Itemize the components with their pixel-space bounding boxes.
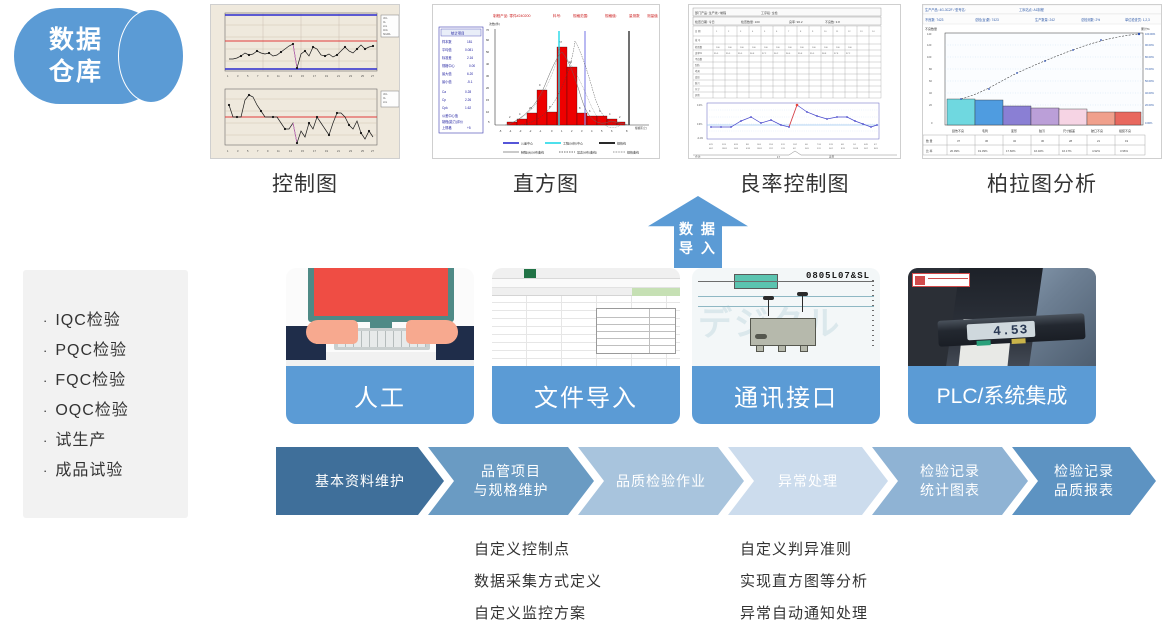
svg-text:SIGMA: SIGMA [383,33,391,36]
bullet-icon: · [43,403,48,418]
flow-step-exception-handling[interactable]: 异常处理 [728,447,888,515]
svg-text:0.4%: 0.4% [697,105,702,107]
svg-text:80.00%: 80.00% [1145,55,1154,59]
source-card-label-manual: 人工 [286,366,474,424]
svg-text:破口不良: 破口不良 [1091,128,1103,133]
svg-text:尺寸超差: 尺寸超差 [1063,128,1075,133]
inspection-item-label: PQC检验 [55,342,127,359]
flow-step-quality-report[interactable]: 检验记录 品质报表 [1012,447,1156,515]
svg-text:测量值: 测量值 [647,13,658,18]
svg-text:LCL: LCL [383,102,388,104]
svg-text:0.00%: 0.00% [1145,121,1153,125]
svg-text:Ca: Ca [442,90,446,94]
svg-text:不良数: 不良数 [695,57,703,61]
svg-text:最大值: 最大值 [442,71,452,76]
svg-text:良率%: 良率% [695,51,703,55]
svg-text:40: 40 [486,62,490,66]
svg-text:37: 37 [957,139,961,143]
chart-caption-yield-control-chart: 良率控制图 [688,168,901,198]
svg-text:+5: +5 [467,126,471,130]
source-card-manual[interactable]: 人工 [286,268,474,424]
svg-text:规格区(上): 规格区(上) [635,126,647,130]
svg-text:部门产品: 生产线 / 制程: 部门产品: 生产线 / 制程 [695,10,726,15]
svg-text:15: 15 [486,98,490,102]
data-import-arrow: 数 据 导 入 [648,196,748,268]
svg-text:平均值: 平均值 [442,47,452,52]
spreadsheet-icon [492,268,680,366]
svg-text:制程产品: 零件#240200: 制程产品: 零件#240200 [493,13,531,18]
svg-text:比 率: 比 率 [926,149,933,153]
svg-text:17.60%: 17.60% [1006,149,1016,153]
svg-text:脏污: 脏污 [1039,128,1045,133]
bullet-icon: · [43,463,48,478]
svg-text:0.28: 0.28 [465,90,471,94]
svg-text:0.00: 0.00 [469,64,475,68]
flow-step-label: 基本资料维护 [315,472,405,491]
svg-text:Cpk: Cpk [442,106,448,110]
inspection-item-finished-product-test[interactable]: ·成品试验 [43,456,188,486]
yield-control-chart-figure: 部门产品: 生产线 / 制程工序段: 全检 检查日期: 今日检查数量: 100 … [689,5,901,159]
flow-step-label: 品管项目 与规格维护 [474,462,549,500]
svg-text:2.26: 2.26 [465,98,471,102]
chart-thumbnail-pareto[interactable]: 生产产品: 4G-3C2F / 型号名:工序站点: A1制程 不良数: 7423… [922,4,1162,159]
flow-step-label: 品质检验作业 [616,472,706,491]
svg-text:90.00%: 90.00% [1145,43,1154,47]
svg-text:其他: 其他 [695,93,700,97]
note-item: 异常自动通知处理 [740,598,868,630]
svg-text:40.00%: 40.00% [1145,91,1154,95]
flow-step-qc-items-spec[interactable]: 品管项目 与规格维护 [428,447,594,515]
flow-step-inspection-statistics[interactable]: 检验记录 统计图表 [872,447,1028,515]
source-card-comm-interface[interactable]: デジタル 0805L07&SL 通讯接口 [692,268,880,424]
svg-text:30: 30 [486,74,490,78]
svg-text:数 量: 数 量 [926,139,933,143]
svg-text:脏污: 脏污 [695,81,700,85]
svg-text:常态分布(曲线): 常态分布(曲线) [577,150,597,155]
svg-text:LCL: LCL [383,26,388,28]
inspection-item-oqc[interactable]: ·OQC检验 [43,396,188,426]
svg-text:181: 181 [467,40,473,44]
flow-step-quality-inspection[interactable]: 品质检验作业 [578,447,744,515]
inspection-item-iqc[interactable]: ·IQC检验 [43,306,188,336]
svg-text:公差中心值: 公差中心值 [442,113,459,118]
chart-caption-pareto: 柏拉图分析 [922,168,1162,198]
note-item: 数据采集方式定义 [474,566,602,598]
svg-text:100.00%: 100.00% [1145,32,1156,36]
svg-text:19: 19 [1125,139,1129,143]
svg-text:生产数量: 242: 生产数量: 242 [1035,17,1055,22]
svg-text:18/01: 18/01 [757,148,763,150]
svg-text:19.39%: 19.39% [978,149,988,153]
note-item: 自定义控制点 [474,534,602,566]
data-warehouse-label: 数据 仓库 [28,24,124,88]
chart-caption-control-chart: 控制图 [210,168,400,198]
person-typing-icon [286,268,474,366]
svg-text:28: 28 [1069,139,1073,143]
svg-text:规格范围:: 规格范围: [573,13,588,18]
svg-text:1.62: 1.62 [465,106,471,110]
inspection-item-fqc[interactable]: ·FQC检验 [43,366,188,396]
svg-text:20: 20 [486,86,490,90]
svg-text:良率: 96.2: 良率: 96.2 [789,19,803,24]
inspection-item-label: OQC检验 [55,402,128,419]
svg-text:单位检查员: 1,2,3: 单位检查员: 1,2,3 [1125,17,1150,22]
source-card-label-file-import: 文件导入 [492,366,680,424]
chart-thumbnail-control-chart[interactable]: 1357 9111315 17192123 2527 UCLCLLCLAVGSI… [210,4,400,159]
inspection-item-trial-production[interactable]: ·试生产 [43,426,188,456]
svg-text:制程(台)分布曲线: 制程(台)分布曲线 [521,150,544,155]
source-card-plc-integration[interactable]: 4.53 PLC/系统集成 [908,268,1096,424]
svg-text:工程(分析)中心: 工程(分析)中心 [563,141,583,146]
svg-text:Cp: Cp [442,98,446,102]
svg-text:工序段: 全检: 工序段: 全检 [761,10,778,15]
note-item: 自定义监控方案 [474,598,602,630]
svg-text:70: 70 [486,28,490,32]
svg-text:50.00%: 50.00% [1145,79,1154,83]
svg-text:规格值:: 规格值: [605,13,617,18]
svg-text:36: 36 [985,139,989,143]
svg-text:规格曲线: 规格曲线 [627,150,639,155]
svg-text:2.16: 2.16 [467,56,473,60]
svg-text:不良数量: 不良数量 [925,26,937,31]
svg-text:32: 32 [1013,139,1017,143]
svg-text:10: 10 [486,110,490,114]
svg-text:检查日期: 今日: 检查日期: 今日 [695,19,715,24]
chart-thumbnail-yield-control-chart[interactable]: 部门产品: 生产线 / 制程工序段: 全检 检查日期: 今日检查数量: 100 … [688,4,901,159]
svg-text:上规格: 上规格 [442,125,452,130]
source-card-label-plc-integration: PLC/系统集成 [908,366,1096,424]
svg-text:21: 21 [1097,139,1101,143]
chart-caption-histogram: 直方图 [432,168,660,198]
bullet-icon: · [43,373,48,388]
svg-text:16.17%: 16.17% [1062,149,1072,153]
svg-text:检验数: 检验数 [695,45,703,49]
flow-step-label: 检验记录 品质报表 [1054,462,1114,500]
note-item: 实现直方图等分析 [740,566,868,598]
svg-text:120: 120 [927,43,932,47]
inspection-types-panel: ·IQC检验 ·PQC检验 ·FQC检验 ·OQC检验 ·试生产 ·成品试验 [23,270,188,518]
svg-text:日 期: 日 期 [695,29,701,33]
svg-text:18/01: 18/01 [722,148,728,150]
svg-text:变形: 变形 [695,75,700,79]
svg-text:公差中心: 公差中心 [521,141,533,146]
svg-text:项目: 项目 [829,155,835,159]
svg-text:16.40%: 16.40% [1034,149,1044,153]
svg-text:60: 60 [486,38,490,42]
process-flow: 基本资料维护 品管项目 与规格维护 品质检验作业 异常处理 检验记录 统计图表 … [276,447,1156,515]
svg-text:0.0%: 0.0% [697,124,702,126]
svg-text:合计:: 合计: [695,155,701,159]
svg-text:3.96%: 3.96% [1120,149,1128,153]
svg-text:总检(台)数: 7423: 总检(台)数: 7423 [975,17,999,22]
svg-text:不良数: 3.8: 不良数: 3.8 [825,19,840,24]
svg-text:AVG: AVG [383,29,388,32]
svg-text:毛刺: 毛刺 [695,69,700,73]
svg-text:统计项目: 统计项目 [451,31,465,36]
svg-text:量测数: 量测数 [629,13,640,18]
svg-text:工序站点: A1制程: 工序站点: A1制程 [1019,7,1045,12]
svg-text:-0.4%: -0.4% [697,138,703,140]
bullet-icon: · [43,343,48,358]
inspection-item-label: IQC检验 [55,312,120,329]
inspection-item-label: 成品试验 [55,462,123,479]
svg-text:标准差: 标准差 [442,55,452,60]
device-interface-icon: デジタル 0805L07&SL [692,268,880,366]
svg-text:20.09%: 20.09% [950,149,960,153]
bullet-icon: · [43,433,48,448]
svg-text:尺寸: 尺寸 [695,87,700,91]
source-card-label-comm-interface: 通讯接口 [692,366,880,424]
bullet-icon: · [43,313,48,328]
svg-text:UCL: UCL [383,94,388,96]
svg-text:UCL: UCL [383,18,388,20]
svg-text:料号:: 料号: [553,13,561,18]
flow-step-basic-data[interactable]: 基本资料维护 [276,447,444,515]
cylinder-cap [118,9,184,103]
pareto-chart-figure: 生产产品: 4G-3C2F / 型号名:工序站点: A1制程 不良数: 7423… [923,5,1162,159]
svg-text:总检测数: 2%: 总检测数: 2% [1081,17,1100,22]
svg-text:6.20: 6.20 [467,72,473,76]
svg-text:70.00%: 70.00% [1145,67,1154,71]
inspection-item-label: FQC检验 [55,372,126,389]
svg-text:变形: 变形 [1011,128,1017,133]
svg-text:生产产品: 4G-3C2F / 型号名:: 生产产品: 4G-3C2F / 型号名: [925,7,966,12]
svg-text:30: 30 [1041,139,1045,143]
inspection-item-pqc[interactable]: ·PQC检验 [43,336,188,366]
svg-text:样本数: 样本数 [442,39,452,44]
svg-text:规格线: 规格线 [617,141,626,146]
svg-text:4.92%: 4.92% [1092,149,1100,153]
svg-text:检查数量: 100: 检查数量: 100 [741,19,760,24]
svg-text:-5.1: -5.1 [467,80,473,84]
svg-text:140: 140 [927,32,932,36]
svg-text:0.081: 0.081 [465,48,473,52]
digital-caliper-photo: 4.53 [908,268,1096,366]
svg-text:批 号: 批 号 [695,38,701,42]
data-warehouse-cylinder: 数据 仓库 [14,8,186,104]
svg-text:次数(件): 次数(件) [489,21,500,26]
svg-text:10/18: 10/18 [853,148,859,150]
svg-text:50: 50 [486,50,490,54]
svg-text:制程(能力)评价: 制程(能力)评价 [442,119,464,124]
svg-text:刮伤不良: 刮伤不良 [952,128,964,133]
inspection-item-label: 试生产 [55,432,106,449]
notes-column-left: 自定义控制点 数据采集方式定义 自定义监控方案 [474,534,602,630]
data-import-label: 数 据 导 入 [648,220,748,258]
flow-step-label: 异常处理 [778,472,838,491]
svg-text:规格中心: 规格中心 [442,63,456,68]
svg-text:不良数: 7423: 不良数: 7423 [925,17,944,22]
notes-column-right: 自定义判异准则 实现直方图等分析 异常自动通知处理 [740,534,868,630]
source-card-file-import[interactable]: 文件导入 [492,268,680,424]
svg-text:100: 100 [927,55,932,59]
svg-text:最小值: 最小值 [442,79,452,84]
flow-step-label: 检验记录 统计图表 [920,462,980,500]
histogram-figure: 制程产品: 零件#240200料号: 规格范围:规格值: 量测数测量值 统计项目… [433,5,660,159]
svg-text:累计%: 累计% [1141,26,1150,31]
svg-text:毛刺: 毛刺 [982,128,988,133]
note-item: 自定义判异准则 [740,534,868,566]
control-chart-figure: 1357 9111315 17192123 2527 UCLCLLCLAVGSI… [211,5,400,159]
svg-text:刮伤: 刮伤 [695,63,700,67]
svg-text:组装不良: 组装不良 [1119,128,1131,133]
svg-text:20.00%: 20.00% [1145,103,1154,107]
chart-thumbnail-histogram[interactable]: 制程产品: 零件#240200料号: 规格范围:规格值: 量测数测量值 统计项目… [432,4,660,159]
